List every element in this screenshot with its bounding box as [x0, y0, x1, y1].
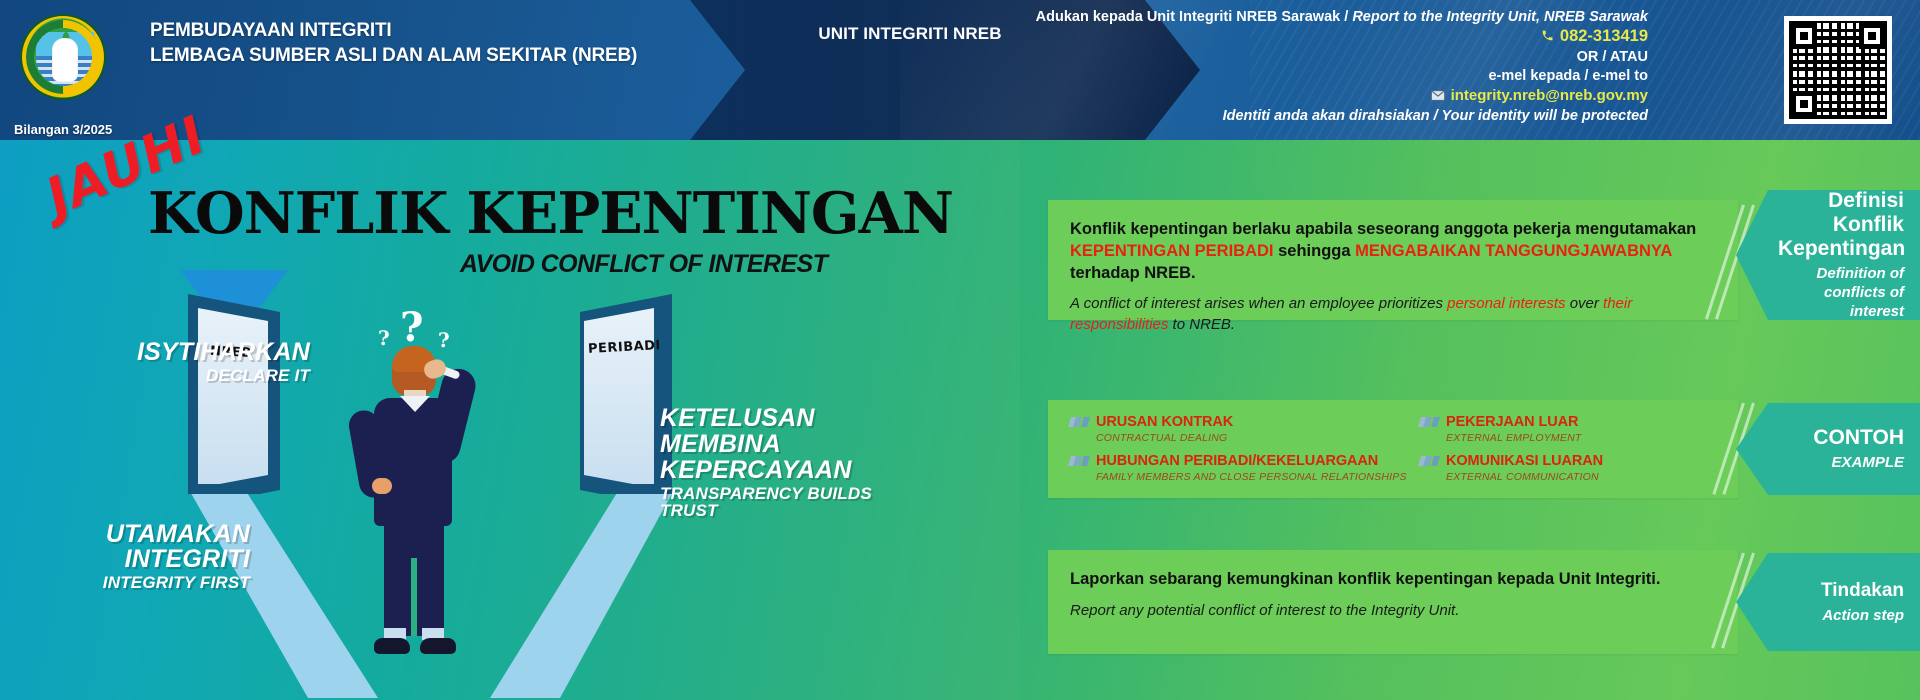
phone-line: 082-313419	[1008, 27, 1648, 48]
triple-arrow-icon	[1418, 414, 1446, 427]
examples-tag: CONTOH EXAMPLE	[1736, 403, 1920, 495]
page-title: KONFLIK KEPENTINGAN	[148, 185, 953, 243]
definition-en: A conflict of interest arises when an em…	[1070, 293, 1716, 335]
person-hand-left	[372, 478, 392, 494]
label-integrity-en: INTEGRITY FIRST	[30, 574, 250, 591]
label-transparency-my: KETELUSAN MEMBINA KEPERCAYAAN	[660, 405, 890, 483]
report-en: Report to the Integrity Unit, NREB Saraw…	[1352, 9, 1648, 25]
example-my: KOMUNIKASI LUARAN	[1446, 453, 1603, 470]
qr-pattern	[1789, 21, 1887, 119]
definition-en-part2: over	[1566, 295, 1604, 312]
confused-person-icon: ? ? ?	[350, 310, 490, 660]
label-integrity-first: UTAMAKAN INTEGRITI INTEGRITY FIRST	[30, 522, 250, 591]
door-left-panel	[198, 308, 268, 484]
header-org-title: PEMBUDAYAAN INTEGRITI LEMBAGA SUMBER ASL…	[150, 18, 710, 68]
confidentiality-note: Identiti anda akan dirahsiakan / Your id…	[1008, 107, 1648, 126]
report-my: Adukan kepada Unit Integriti NREB Sarawa…	[1036, 9, 1341, 25]
example-text: KOMUNIKASI LUARAN EXTERNAL COMMUNICATION	[1446, 453, 1603, 484]
example-text: PEKERJAAN LUAR EXTERNAL EMPLOYMENT	[1446, 414, 1581, 445]
example-en: EXTERNAL EMPLOYMENT	[1446, 431, 1581, 445]
example-my: URUSAN KONTRAK	[1096, 414, 1233, 431]
example-text: URUSAN KONTRAK CONTRACTUAL DEALING	[1096, 414, 1233, 445]
definition-en-part1: A conflict of interest arises when an em…	[1070, 295, 1447, 312]
triple-arrow-icon	[1418, 453, 1446, 466]
email-address[interactable]: integrity.nreb@nreb.gov.my	[1451, 87, 1648, 104]
nreb-logo-icon	[20, 14, 106, 100]
action-my: Laporkan sebarang kemungkinan konflik ke…	[1070, 568, 1716, 590]
email-label: e-mel kepada / e-mel to	[1008, 67, 1648, 86]
envelope-icon	[1431, 88, 1445, 107]
action-en: Report any potential conflict of interes…	[1070, 600, 1716, 621]
definition-my-part1: Konflik kepentingan berlaku apabila sese…	[1070, 220, 1696, 238]
org-line-1: PEMBUDAYAAN INTEGRITI	[150, 18, 710, 43]
question-mark-small-left: ?	[378, 326, 390, 350]
example-my: HUBUNGAN PERIBADI/KEKELUARGAAN	[1096, 453, 1407, 470]
action-card: Laporkan sebarang kemungkinan konflik ke…	[1048, 550, 1738, 654]
qr-eye-bl	[1791, 91, 1817, 117]
definition-tag-en: Definition of conflicts of interest	[1778, 264, 1904, 321]
phone-icon	[1541, 29, 1554, 48]
label-integrity-my: UTAMAKAN INTEGRITI	[30, 522, 250, 572]
label-declare-my: ISYTIHARKAN	[110, 340, 310, 365]
examples-column-right: PEKERJAAN LUAR EXTERNAL EMPLOYMENT KOMUN…	[1418, 414, 1718, 492]
action-tag-en: Action step	[1778, 606, 1904, 625]
definition-card: Konflik kepentingan berlaku apabila sese…	[1048, 200, 1738, 320]
question-mark-small-right: ?	[438, 328, 450, 352]
definition-tag-my: Definisi Konflik Kepentingan	[1778, 189, 1904, 261]
example-en: FAMILY MEMBERS AND CLOSE PERSONAL RELATI…	[1096, 470, 1407, 484]
or-label: OR / ATAU	[1008, 48, 1648, 67]
definition-my-part2: sehingga	[1274, 242, 1356, 260]
label-transparency: KETELUSAN MEMBINA KEPERCAYAAN TRANSPAREN…	[660, 405, 890, 519]
label-declare-en: DECLARE IT	[110, 367, 310, 384]
person-shoe-right	[420, 638, 456, 654]
examples-tag-my: CONTOH	[1778, 426, 1904, 450]
example-en: CONTRACTUAL DEALING	[1096, 431, 1233, 445]
person-shoe-left	[374, 638, 410, 654]
label-transparency-en: TRANSPARENCY BUILDS TRUST	[660, 485, 890, 519]
triple-arrow-icon	[1068, 414, 1096, 427]
example-item: PEKERJAAN LUAR EXTERNAL EMPLOYMENT	[1418, 414, 1718, 445]
definition-en-part3: to NREB.	[1168, 316, 1235, 333]
infographic-page: PEMBUDAYAAN INTEGRITI LEMBAGA SUMBER ASL…	[0, 0, 1920, 700]
examples-tag-en: EXAMPLE	[1778, 453, 1904, 472]
doors-illustration: NREB PERIBADI ? ? ?	[180, 270, 680, 690]
definition-tag: Definisi Konflik Kepentingan Definition …	[1736, 190, 1920, 320]
label-declare: ISYTIHARKAN DECLARE IT	[110, 340, 310, 384]
report-separator: /	[1344, 9, 1348, 25]
example-item: KOMUNIKASI LUARAN EXTERNAL COMMUNICATION	[1418, 453, 1718, 484]
definition-my: Konflik kepentingan berlaku apabila sese…	[1070, 218, 1716, 284]
person-leg-gap	[411, 558, 417, 636]
qr-eye-tr	[1859, 23, 1885, 49]
action-tag-my: Tindakan	[1778, 579, 1904, 603]
page-header: PEMBUDAYAAN INTEGRITI LEMBAGA SUMBER ASL…	[0, 0, 1920, 140]
examples-card: URUSAN KONTRAK CONTRACTUAL DEALING HUBUN…	[1048, 400, 1738, 498]
issue-number: Bilangan 3/2025	[14, 122, 112, 137]
example-text: HUBUNGAN PERIBADI/KEKELUARGAAN FAMILY ME…	[1096, 453, 1407, 484]
definition-en-red1: personal interests	[1447, 295, 1565, 312]
definition-my-red2: MENGABAIKAN TANGGUNGJAWABNYA	[1355, 242, 1672, 260]
example-my: PEKERJAAN LUAR	[1446, 414, 1581, 431]
header-contact-block: Adukan kepada Unit Integriti NREB Sarawa…	[1008, 8, 1648, 126]
examples-column-left: URUSAN KONTRAK CONTRACTUAL DEALING HUBUN…	[1068, 414, 1418, 492]
example-item: URUSAN KONTRAK CONTRACTUAL DEALING	[1068, 414, 1418, 445]
logo-ring	[26, 20, 100, 94]
org-line-2: LEMBAGA SUMBER ASLI DAN ALAM SEKITAR (NR…	[150, 43, 710, 68]
qr-code[interactable]	[1784, 16, 1892, 124]
report-line: Adukan kepada Unit Integriti NREB Sarawa…	[1008, 8, 1648, 27]
example-en: EXTERNAL COMMUNICATION	[1446, 470, 1603, 484]
definition-my-part3: terhadap NREB.	[1070, 264, 1196, 282]
phone-number[interactable]: 082-313419	[1560, 27, 1648, 45]
question-mark-large: ?	[400, 304, 423, 351]
email-line: integrity.nreb@nreb.gov.my	[1008, 86, 1648, 107]
definition-my-red1: KEPENTINGAN PERIBADI	[1070, 242, 1274, 260]
action-tag: Tindakan Action step	[1736, 553, 1920, 651]
triple-arrow-icon	[1068, 453, 1096, 466]
door-right-panel	[584, 308, 654, 484]
qr-eye-tl	[1791, 23, 1817, 49]
example-item: HUBUNGAN PERIBADI/KEKELUARGAAN FAMILY ME…	[1068, 453, 1418, 484]
light-beam-right	[470, 488, 680, 698]
